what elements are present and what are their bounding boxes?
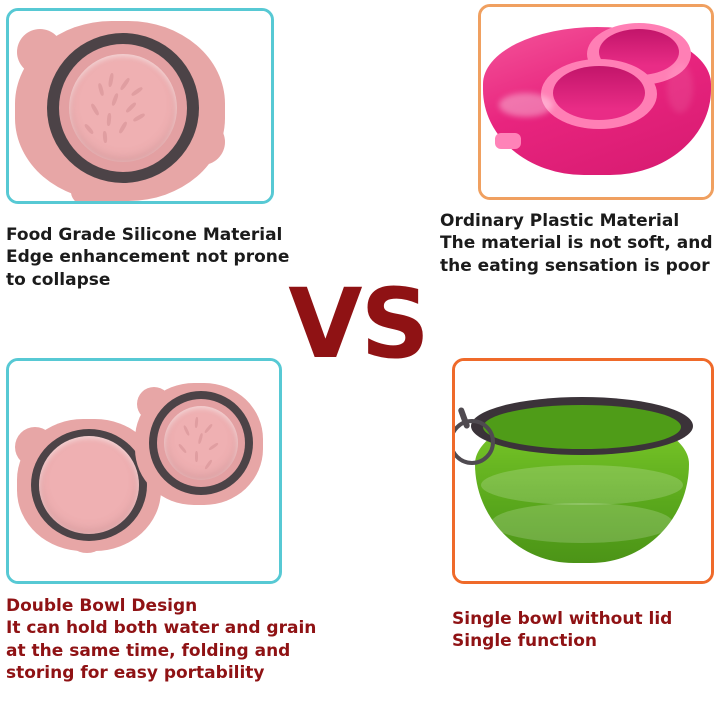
vs-label: VS bbox=[268, 276, 448, 372]
caption-double-bowl-design: Double Bowl Design It can hold both wate… bbox=[6, 595, 376, 685]
plastic-bowl-illustration bbox=[481, 7, 711, 197]
bowl-lid-face bbox=[69, 54, 177, 162]
caption-food-grade-silicone: Food Grade Silicone Material Edge enhanc… bbox=[6, 224, 306, 291]
panel-silicone-double-bowl-open bbox=[6, 358, 282, 584]
bowl-right-lid-face bbox=[164, 406, 238, 480]
caption-ordinary-plastic: Ordinary Plastic Material The material i… bbox=[440, 210, 720, 277]
plastic-bowl-foot-notch bbox=[495, 133, 521, 149]
panel-green-collapsible-bowl bbox=[452, 358, 714, 584]
panel-plastic-double-bowl bbox=[478, 4, 714, 200]
green-bowl-fold-ring bbox=[491, 503, 673, 543]
bowl-left-cavity bbox=[39, 436, 139, 534]
silicone-double-bowl-illustration bbox=[9, 361, 279, 581]
green-bowl-illustration bbox=[455, 361, 711, 581]
plastic-bowl-highlight bbox=[667, 63, 693, 113]
green-bowl-fold-ring bbox=[481, 465, 683, 505]
green-bowl-cavity bbox=[483, 405, 681, 449]
comparison-graphic: Food Grade Silicone Material Edge enhanc… bbox=[0, 0, 720, 720]
plastic-bowl-cavity-front bbox=[553, 66, 645, 120]
lid-swirl-mark bbox=[195, 451, 198, 462]
panel-silicone-double-bowl-lid bbox=[6, 8, 274, 204]
caption-single-bowl: Single bowl without lid Single function bbox=[452, 608, 720, 653]
plastic-bowl-highlight bbox=[499, 93, 553, 117]
silicone-bowl-lid-illustration bbox=[9, 11, 271, 201]
